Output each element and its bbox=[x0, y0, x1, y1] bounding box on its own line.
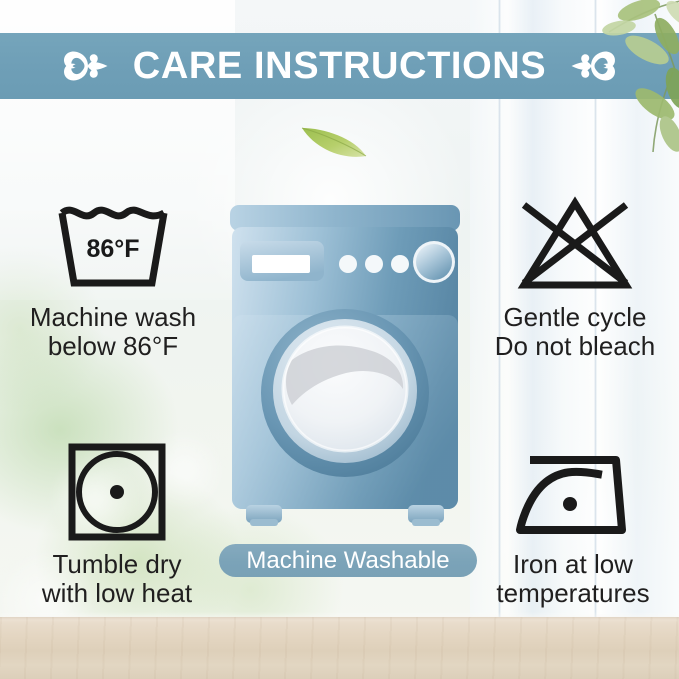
wood-grain-texture bbox=[0, 617, 679, 679]
control-dot-3 bbox=[391, 255, 409, 273]
control-knob bbox=[413, 241, 455, 283]
machine-washable-badge: Machine Washable bbox=[219, 544, 477, 577]
care-label-do-not-bleach: Gentle cycle Do not bleach bbox=[495, 303, 655, 361]
badge-label: Machine Washable bbox=[246, 549, 449, 573]
fleur-de-lis-icon bbox=[61, 43, 115, 89]
green-leaf-icon bbox=[298, 122, 370, 162]
wash-temperature-value: 86°F bbox=[86, 235, 139, 263]
care-item-tumble-dry: Tumble dry with low heat bbox=[12, 440, 222, 608]
washing-machine-illustration bbox=[222, 205, 468, 535]
tumble-dry-low-icon bbox=[66, 440, 168, 544]
care-item-machine-wash: 86°F Machine wash below 86°F bbox=[8, 193, 218, 361]
control-dot-1 bbox=[339, 255, 357, 273]
care-label-iron-low: Iron at low temperatures bbox=[496, 550, 649, 608]
iron-low-icon bbox=[512, 440, 634, 544]
care-instructions-infographic: CARE INSTRUCTIONS bbox=[0, 0, 679, 679]
page-title: CARE INSTRUCTIONS bbox=[133, 47, 546, 85]
no-bleach-triangle-icon bbox=[514, 193, 636, 297]
control-dot-2 bbox=[365, 255, 383, 273]
care-item-iron-low: Iron at low temperatures bbox=[468, 440, 678, 608]
wash-tub-icon: 86°F bbox=[54, 193, 172, 297]
header-banner: CARE INSTRUCTIONS bbox=[0, 33, 679, 99]
detergent-drawer bbox=[240, 241, 324, 281]
care-item-do-not-bleach: Gentle cycle Do not bleach bbox=[470, 193, 679, 361]
care-label-tumble-dry: Tumble dry with low heat bbox=[42, 550, 192, 608]
fleur-de-lis-icon bbox=[564, 43, 618, 89]
wooden-table-surface bbox=[0, 617, 679, 679]
washer-door bbox=[261, 309, 429, 477]
care-label-machine-wash: Machine wash below 86°F bbox=[30, 303, 196, 361]
